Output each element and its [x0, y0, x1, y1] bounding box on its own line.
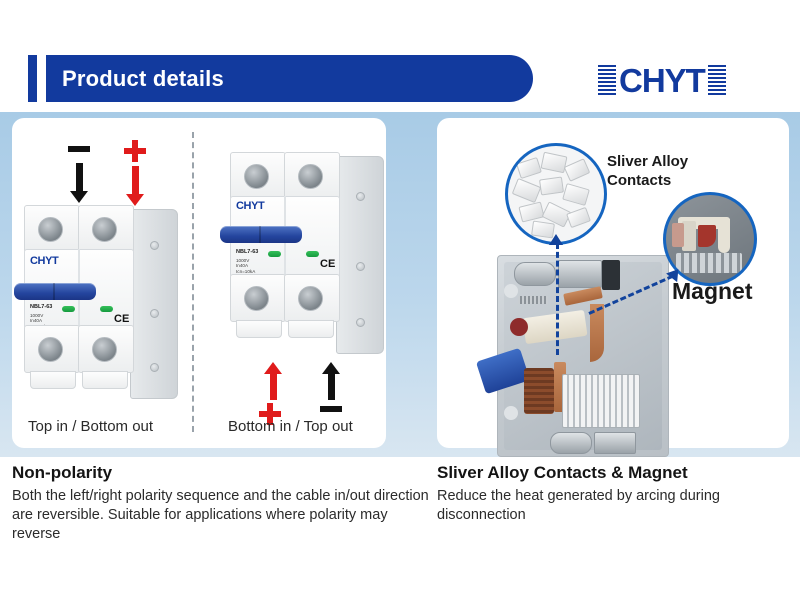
- logo-left-stripes2-icon: [605, 65, 616, 95]
- silver-alloy-contacts-closeup: [505, 143, 607, 245]
- breaker-a-image: CHYT NBL7-63 1000V In40A Icn=10kA IEC/EN…: [22, 205, 182, 405]
- right-caption-body: Reduce the heat generated by arcing duri…: [437, 487, 789, 525]
- logo-text: CHYT: [619, 64, 705, 97]
- slide: Product details CHYT: [0, 0, 800, 591]
- callout-magnet: Magnet: [672, 278, 753, 305]
- logo-right-stripes2-icon: [719, 65, 726, 95]
- breaker-b-minus-sign: [320, 406, 342, 412]
- page-title: Product details: [62, 64, 224, 94]
- header: Product details CHYT: [0, 22, 800, 92]
- breaker-a-down-arrow-black: [70, 163, 88, 203]
- left-caption: Non-polarity Both the left/right polarit…: [12, 462, 430, 544]
- company-logo: CHYT: [598, 60, 773, 100]
- breaker-b-led-left: [268, 251, 281, 257]
- breaker-b-led-right: [306, 251, 319, 257]
- breaker-b-up-arrow-red: [264, 362, 282, 402]
- cutaway-breaker-image: [497, 255, 669, 457]
- breaker-b-brand: CHYT: [236, 200, 264, 212]
- callout-contacts-line2: Contacts: [607, 171, 727, 190]
- breaker-b-up-arrow-black: [322, 362, 340, 402]
- logo-right-stripes-icon: [708, 65, 719, 95]
- left-caption-body: Both the left/right polarity sequence an…: [12, 487, 430, 544]
- breaker-a-caption: Top in / Bottom out: [28, 418, 153, 435]
- breaker-b-image: CHYT NBL7-63 1000V In40A Icn=10kA IEC/EN…: [228, 152, 388, 362]
- cutaway-arc-chamber: [562, 374, 640, 428]
- breaker-a-minus-sign: [68, 146, 90, 152]
- breaker-b-lever: [220, 226, 302, 243]
- callout-contacts-line1: Sliver Alloy: [607, 152, 727, 171]
- breaker-a-ce-mark: CE: [114, 313, 129, 325]
- right-caption: Sliver Alloy Contacts & Magnet Reduce th…: [437, 462, 789, 525]
- breaker-a-down-arrow-red: [126, 166, 144, 206]
- right-caption-heading: Sliver Alloy Contacts & Magnet: [437, 462, 789, 483]
- breaker-b-ce-mark: CE: [320, 258, 335, 270]
- breaker-a-brand: CHYT: [30, 255, 58, 267]
- panel-divider: [192, 132, 194, 432]
- breaker-b-caption: Bottom in / Top out: [228, 418, 353, 435]
- logo-left-stripes-icon: [598, 65, 605, 95]
- breaker-a-led-left: [62, 306, 75, 312]
- contacts-pointer-arrow-icon: [549, 234, 563, 245]
- breaker-a-lever: [14, 283, 96, 300]
- left-caption-heading: Non-polarity: [12, 462, 430, 483]
- header-accent-bar: [28, 55, 37, 102]
- contacts-pointer-line: [556, 243, 559, 355]
- breaker-a-plus-sign: [124, 140, 146, 162]
- breaker-a-led-right: [100, 306, 113, 312]
- callout-silver-alloy-contacts: Sliver Alloy Contacts: [607, 152, 727, 190]
